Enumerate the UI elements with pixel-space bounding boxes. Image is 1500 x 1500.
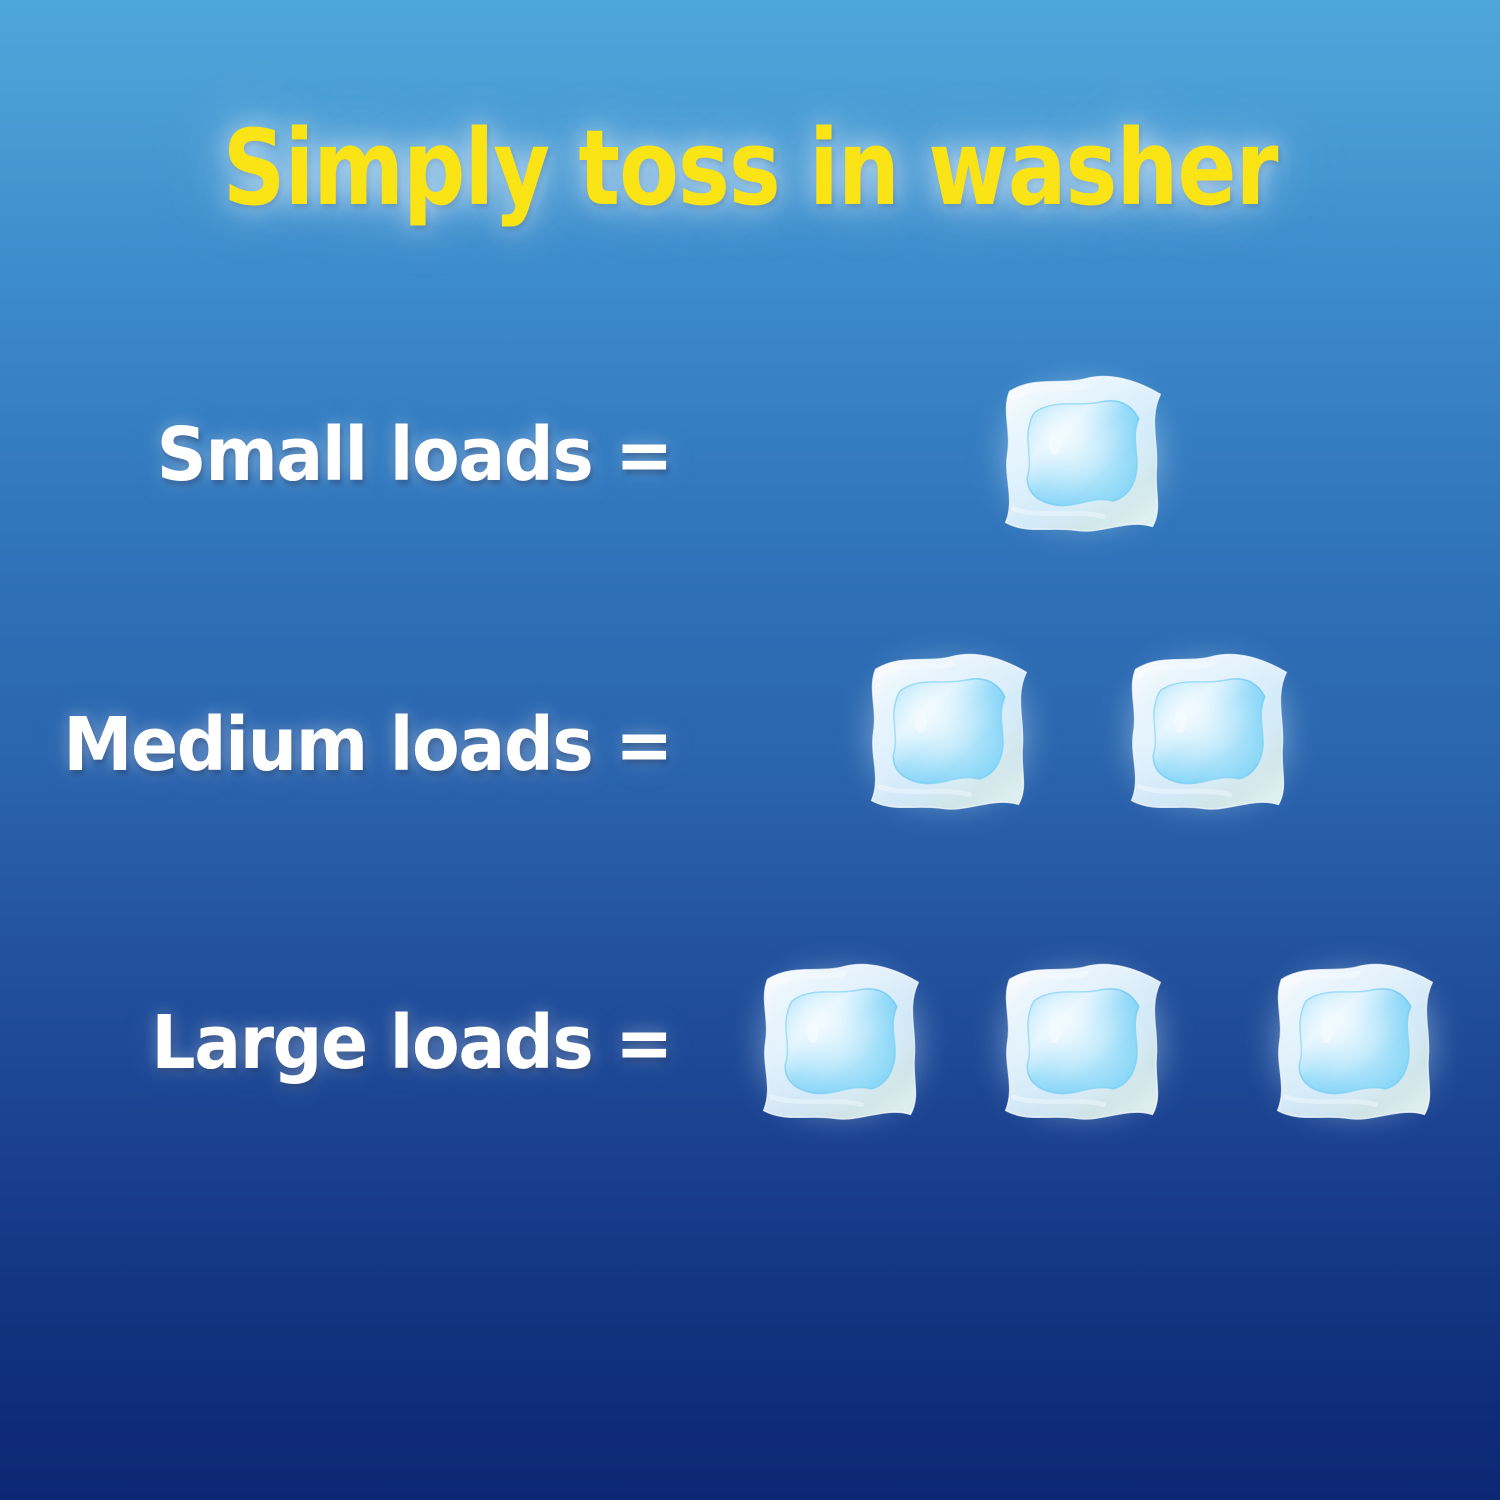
dosing-row-large: Large loads = xyxy=(0,938,1500,1148)
pod-group-medium xyxy=(672,640,1500,850)
dosing-row-medium: Medium loads = xyxy=(0,640,1500,850)
pod-group-large xyxy=(672,938,1500,1148)
detergent-pod-icon xyxy=(742,950,938,1136)
dosing-row-label-small: Small loads = xyxy=(40,418,672,492)
detergent-pod-icon xyxy=(984,362,1180,548)
detergent-pod-icon xyxy=(984,950,1180,1136)
title-container: Simply toss in washer xyxy=(0,112,1500,224)
product-infographic: Simply toss in washer Small loads = xyxy=(0,0,1500,1500)
pod-group-small xyxy=(672,350,1500,560)
dosing-row-small: Small loads = xyxy=(0,350,1500,560)
dosing-row-label-medium: Medium loads = xyxy=(40,708,672,782)
page-title: Simply toss in washer xyxy=(223,112,1278,224)
dosing-row-label-large: Large loads = xyxy=(40,1006,672,1080)
detergent-pod-icon xyxy=(850,640,1046,826)
detergent-pod-icon xyxy=(1256,950,1452,1136)
detergent-pod-icon xyxy=(1110,640,1306,826)
